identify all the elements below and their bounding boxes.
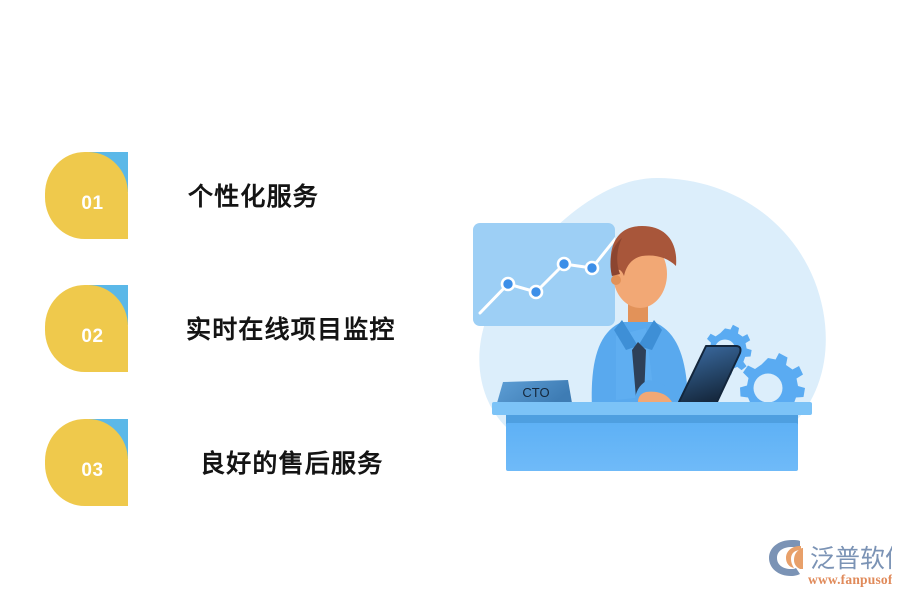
feature-label: 实时在线项目监控: [186, 278, 396, 378]
badge-blob-shape: 01: [45, 152, 128, 239]
brand-watermark: 泛普软件 www.fanpusoft.com: [766, 534, 892, 590]
illustration-cto-at-desk: CTO: [440, 150, 880, 490]
brand-name: 泛普软件: [810, 545, 892, 573]
feature-badge: 02: [45, 278, 140, 378]
feature-badge: 01: [45, 145, 140, 245]
badge-number: 02: [81, 326, 103, 348]
brand-url: www.fanpusoft.com: [808, 572, 892, 587]
badge-number: 01: [81, 193, 103, 215]
fanpu-logo-mark-icon: [769, 540, 803, 576]
analytics-panel: [473, 223, 620, 326]
feature-row[interactable]: 03 良好的售后服务: [0, 412, 440, 522]
feature-row[interactable]: 01 个性化服务: [0, 145, 440, 255]
feature-label: 个性化服务: [188, 145, 319, 245]
feature-badge: 03: [45, 412, 140, 512]
feature-row[interactable]: 02 实时在线项目监控: [0, 278, 440, 388]
badge-blob-shape: 02: [45, 285, 128, 372]
nameplate: CTO: [497, 380, 572, 403]
slide-canvas: 01 个性化服务 02 实时在线项目监控 03 良好的售后服务: [0, 0, 900, 600]
feature-label: 良好的售后服务: [200, 412, 383, 512]
nameplate-label: CTO: [522, 385, 549, 400]
badge-number: 03: [81, 460, 103, 482]
desk: [492, 402, 812, 471]
badge-blob-shape: 03: [45, 419, 128, 506]
